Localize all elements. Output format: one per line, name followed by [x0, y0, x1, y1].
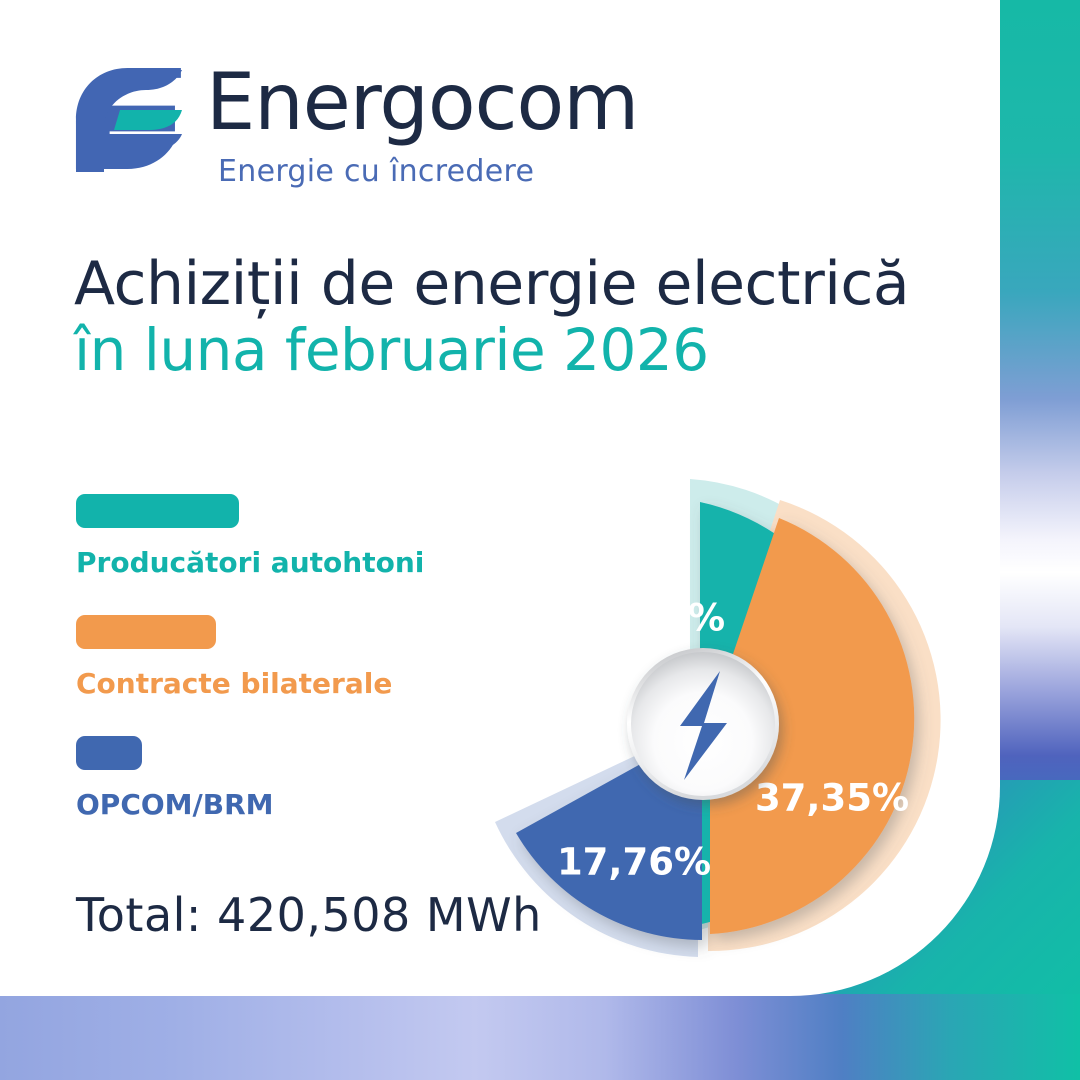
legend-swatch-contracte-bilaterale	[76, 615, 216, 649]
legend-item-opcom-brm: OPCOM/BRM	[76, 736, 476, 821]
background-gradient-bottom-band	[0, 994, 1080, 1080]
pie-chart-svg: 44,89% 37,35% 17,76%	[452, 468, 952, 968]
page-title: Achiziții de energie electrică în luna f…	[74, 252, 954, 384]
pie-chart: 44,89% 37,35% 17,76%	[452, 468, 952, 968]
legend-label-producatori-autohtoni: Producători autohtoni	[76, 546, 476, 579]
chart-legend: Producători autohtoni Contracte bilatera…	[76, 494, 476, 857]
page-title-line-2: în luna februarie 2026	[74, 317, 954, 384]
legend-item-producatori-autohtoni: Producători autohtoni	[76, 494, 476, 579]
legend-item-contracte-bilaterale: Contracte bilaterale	[76, 615, 476, 700]
page-title-line-1: Achiziții de energie electrică	[74, 252, 954, 317]
legend-swatch-producatori-autohtoni	[76, 494, 239, 528]
pie-label-opcom-brm: 17,76%	[557, 841, 711, 884]
infographic-canvas: Energocom Energie cu încredere Achiziții…	[0, 0, 1080, 1080]
legend-label-contracte-bilaterale: Contracte bilaterale	[76, 667, 476, 700]
brand-wordmark: Energocom	[206, 58, 638, 148]
brand-tagline: Energie cu încredere	[218, 154, 534, 189]
pie-label-contracte-bilaterale: 37,35%	[755, 777, 909, 820]
legend-label-opcom-brm: OPCOM/BRM	[76, 788, 476, 821]
brand-logo: Energocom Energie cu încredere	[74, 62, 694, 187]
pie-label-producatori-autohtoni: 44,89%	[571, 597, 725, 640]
legend-swatch-opcom-brm	[76, 736, 142, 770]
energocom-e-mark-icon	[74, 66, 184, 176]
